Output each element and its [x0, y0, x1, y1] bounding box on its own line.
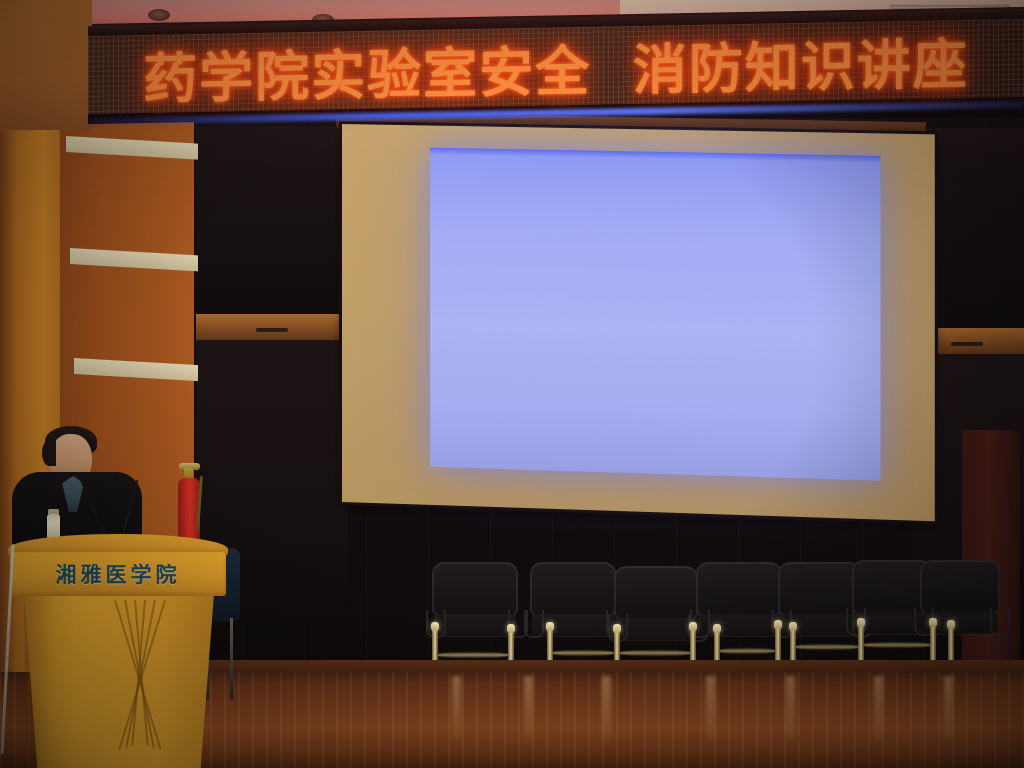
stanchion-post-finial: [689, 622, 697, 631]
chair: [530, 562, 616, 640]
wall-alcove: [196, 126, 348, 314]
stanchion-post-finial: [507, 624, 515, 633]
stanchion-rope: [718, 648, 776, 654]
stanchion-rope: [436, 652, 510, 658]
ceiling-downlight-icon: [148, 9, 170, 21]
chair: [432, 562, 518, 640]
chair-seat: [434, 614, 516, 636]
stanchion-post-finial: [713, 624, 721, 633]
alcove-shelf: [196, 314, 348, 340]
photo-scene: 药学院实验室安全 消防知识讲座 湘雅医学院: [0, 0, 1024, 768]
presenter-hair-side: [42, 440, 56, 466]
side-door[interactable]: [962, 430, 1020, 680]
stanchion-post-finial: [774, 620, 782, 629]
podium: 湘雅医学院: [2, 534, 234, 768]
stanchion-post-finial: [857, 618, 865, 627]
stanchion-rope: [794, 644, 860, 650]
stanchion-rope: [618, 650, 692, 656]
stanchion-post-finial: [929, 618, 937, 627]
floor-reflection: [786, 676, 795, 742]
chair-backrest: [920, 560, 1000, 614]
stanchion-post-finial: [789, 622, 797, 631]
stanchion-rope: [551, 650, 615, 656]
stanchion-post-finial: [613, 624, 621, 633]
projection-screen-image: [430, 148, 880, 481]
chair: [614, 566, 698, 644]
stanchion-post-finial: [947, 620, 955, 629]
stanchion-post-finial: [546, 622, 554, 631]
floor-reflection: [602, 676, 611, 742]
floor-reflection: [524, 676, 533, 742]
chair-seat: [616, 618, 696, 640]
chair-armrest: [524, 610, 544, 638]
alcove-shelf-handle: [256, 328, 288, 332]
stanchion-rope: [862, 642, 932, 648]
floor-reflection: [874, 676, 883, 742]
led-banner-text: 药学院实验室安全 消防知识讲座: [88, 21, 1024, 112]
floor-reflection: [944, 676, 953, 742]
chair-backrest: [432, 562, 518, 616]
chair-seat: [532, 614, 614, 636]
podium-nameplate-text: 湘雅医学院: [10, 556, 226, 592]
chair-armrest: [990, 608, 1010, 636]
projection-screen: [342, 124, 935, 521]
stanchion-post-finial: [431, 622, 439, 631]
chair-seat: [698, 614, 780, 636]
podium-shadow: [24, 594, 54, 768]
floor-reflection: [452, 676, 461, 742]
alcove-shelf-handle: [951, 342, 983, 346]
chair-backrest: [530, 562, 616, 616]
presenter: [12, 424, 142, 542]
chair-backrest: [696, 562, 782, 616]
floor-reflection: [706, 676, 715, 742]
chair-backrest: [614, 566, 698, 620]
banner-left-wood-trim: [0, 0, 92, 130]
chair: [696, 562, 782, 640]
